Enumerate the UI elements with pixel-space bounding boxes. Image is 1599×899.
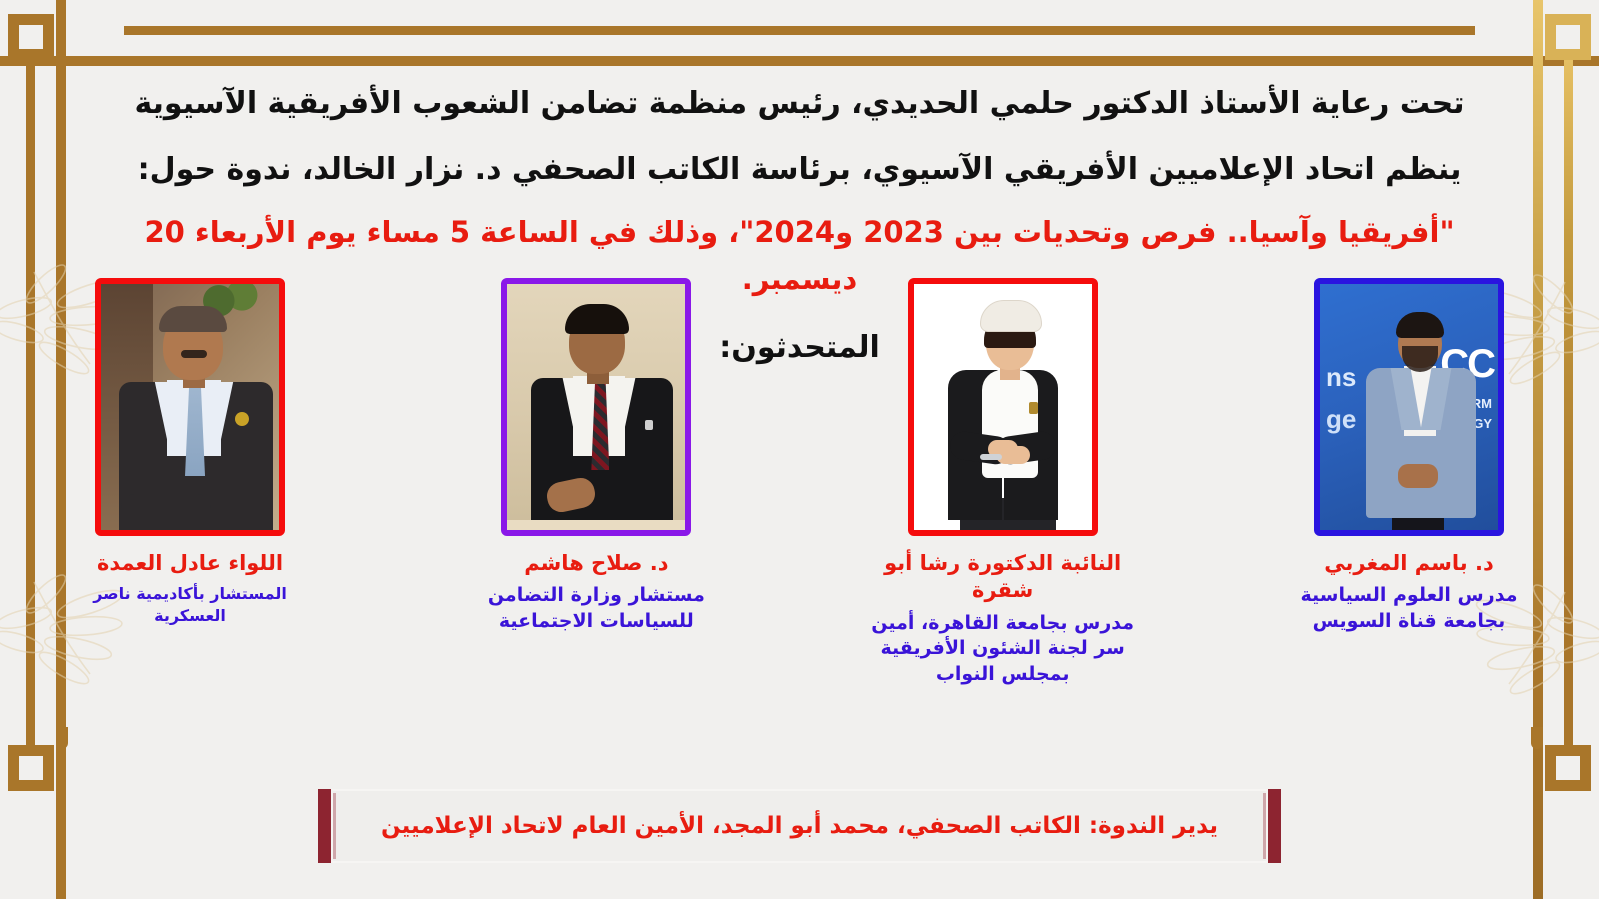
speaker-photo-rasha-abu-shoqra (908, 278, 1098, 536)
corner-ornament-bottom-right (1545, 745, 1591, 791)
speaker-card[interactable]: اللواء عادل العمدة المستشار بأكاديمية نا… (40, 278, 340, 626)
backdrop-text: ge (1326, 404, 1356, 435)
speaker-role: مدرس بجامعة القاهرة، أمين سر لجنة الشئون… (870, 611, 1135, 688)
gold-frame-cap-bottom-right (1531, 727, 1543, 749)
speakers-row: اللواء عادل العمدة المستشار بأكاديمية نا… (40, 278, 1559, 688)
gold-frame-cap-bottom-left (56, 727, 68, 749)
intro-line-1: تحت رعاية الأستاذ الدكتور حلمي الحديدي، … (104, 78, 1495, 130)
speaker-name: د. صلاح هاشم (524, 550, 668, 577)
speaker-role: المستشار بأكاديمية ناصر العسكرية (58, 583, 323, 626)
gold-frame-top-inner (124, 26, 1475, 35)
speaker-photo-bassem-elmaghrabi: ns ge CC ARM GY (1314, 278, 1504, 536)
speaker-photo-salah-hashem (501, 278, 691, 536)
poster-canvas: تحت رعاية الأستاذ الدكتور حلمي الحديدي، … (0, 0, 1599, 899)
corner-ornament-bottom-left (8, 745, 54, 791)
corner-ornament-top-right (1545, 14, 1591, 60)
speaker-card[interactable]: النائبة الدكتورة رشا أبو شقرة مدرس بجامع… (853, 278, 1153, 688)
speaker-role: مدرس العلوم السياسية بجامعة قناة السويس (1277, 583, 1542, 634)
speaker-card[interactable]: ns ge CC ARM GY د. باسم المغ (1259, 278, 1559, 635)
moderator-banner: يدير الندوة: الكاتب الصحفي، محمد أبو الم… (318, 789, 1281, 863)
intro-line-2: ينظم اتحاد الإعلاميين الأفريقي الآسيوي، … (104, 144, 1495, 196)
moderator-text: يدير الندوة: الكاتب الصحفي، محمد أبو الم… (367, 813, 1232, 839)
gold-frame-right-inner (1564, 56, 1573, 779)
gold-frame-left-inner (26, 56, 35, 779)
speaker-card[interactable]: د. صلاح هاشم مستشار وزارة التضامن للسياس… (446, 278, 746, 635)
speaker-role: مستشار وزارة التضامن للسياسات الاجتماعية (464, 583, 729, 634)
speaker-name: اللواء عادل العمدة (97, 550, 283, 577)
backdrop-text: ns (1326, 362, 1356, 393)
backdrop-text: GY (1473, 416, 1492, 431)
speaker-name: النائبة الدكتورة رشا أبو شقرة (853, 550, 1153, 605)
speaker-name: د. باسم المغربي (1324, 550, 1493, 577)
speaker-photo-adel-alomda (95, 278, 285, 536)
corner-ornament-top-left (8, 14, 54, 60)
